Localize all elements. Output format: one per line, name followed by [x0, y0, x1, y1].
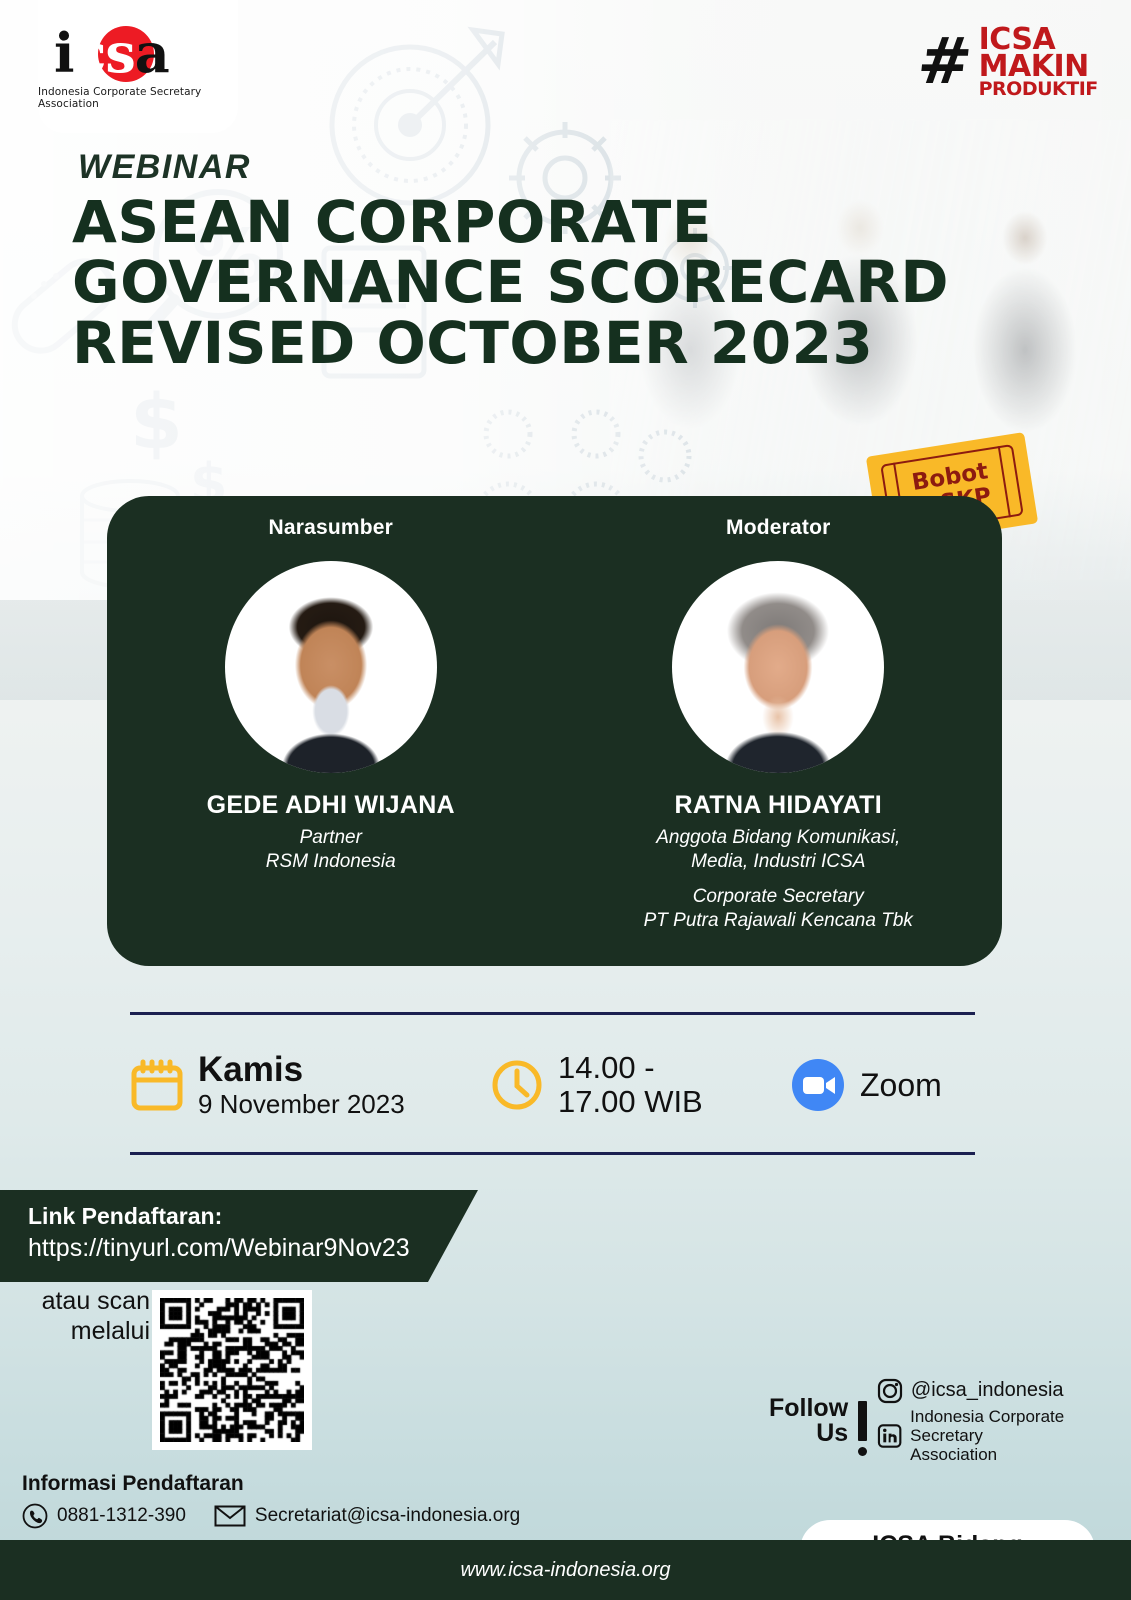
title-line-2: GOVERNANCE SCORECARD: [72, 252, 1072, 312]
logo-letters: icsa: [54, 24, 222, 82]
speaker-name: GEDE ADHI WIJANA: [207, 791, 455, 820]
moderator-role: Moderator: [726, 516, 830, 540]
title-line-1: ASEAN CORPORATE: [72, 192, 1072, 252]
hashtag-lines: ICSA MAKIN PRODUKTIF: [979, 26, 1098, 99]
zoom-video-icon: [790, 1057, 846, 1113]
contact-block: Informasi Pendaftaran 0881-1312-390 Secr…: [22, 1472, 520, 1529]
contact-email-address[interactable]: Secretariat@icsa-indonesia.org: [255, 1505, 520, 1527]
instagram-handle[interactable]: @icsa_indonesia: [911, 1380, 1064, 1402]
divider-bottom: [130, 1152, 975, 1155]
event-platform-label: Zoom: [860, 1067, 942, 1104]
qr-code[interactable]: [152, 1290, 312, 1450]
avatar-photo: [225, 561, 437, 773]
speaker-title-line-2: RSM Indonesia: [266, 850, 396, 874]
event-time-block: 14.00 - 17.00 WIB: [490, 1051, 790, 1119]
scan-line-2: melalui: [22, 1316, 150, 1346]
page-title: ASEAN CORPORATE GOVERNANCE SCORECARD REV…: [72, 192, 1072, 373]
moderator-title2-line-1: Corporate Secretary: [644, 885, 913, 909]
event-details-row: Kamis 9 November 2023 14.00 - 17.00 WIB …: [130, 1035, 990, 1135]
speaker-narasumber: Narasumber GEDE ADHI WIJANA Partner RSM …: [107, 496, 555, 966]
linkedin-icon: [877, 1423, 902, 1449]
contact-email[interactable]: Secretariat@icsa-indonesia.org: [214, 1504, 520, 1528]
linkedin-line-2: Secretary Association: [910, 1426, 997, 1464]
event-date-block: Kamis 9 November 2023: [130, 1051, 490, 1118]
webinar-poster: % $ $: [0, 0, 1131, 1600]
event-time-line-2: 17.00 WIB: [558, 1085, 703, 1119]
icsa-logo: icsa Indonesia Corporate Secretary Assoc…: [38, 0, 238, 133]
speaker-title: Partner RSM Indonesia: [266, 826, 396, 873]
moderator-title-secondary: Corporate Secretary PT Putra Rajawali Ke…: [644, 885, 913, 932]
avatar: [225, 561, 437, 773]
event-date: 9 November 2023: [198, 1090, 405, 1119]
phone-icon: [22, 1503, 48, 1529]
moderator-title-line-1: Anggota Bidang Komunikasi,: [656, 826, 900, 850]
kicker-webinar: WEBINAR: [78, 148, 251, 187]
linkedin-line-1: Indonesia Corporate: [910, 1407, 1064, 1426]
follow-line-2: Us: [769, 1421, 848, 1447]
icsa-logo-wordmark: icsa: [54, 24, 222, 82]
instagram-row[interactable]: @icsa_indonesia: [877, 1378, 1069, 1404]
divider-top: [130, 1012, 975, 1015]
event-platform-block: Zoom: [790, 1057, 990, 1113]
calendar-icon: [130, 1058, 184, 1112]
moderator-title-line-2: Media, Industri ICSA: [656, 850, 900, 874]
follow-us-block: Follow Us @icsa_indonesia: [769, 1386, 1069, 1456]
social-links: @icsa_indonesia Indonesia Corporate Secr…: [877, 1378, 1069, 1465]
event-time-text: 14.00 - 17.00 WIB: [558, 1051, 703, 1119]
hashtag-line-3: PRODUKTIF: [979, 81, 1098, 98]
hashtag-badge: # ICSA MAKIN PRODUKTIF: [918, 18, 1083, 106]
hash-symbol-icon: #: [915, 30, 975, 94]
event-day: Kamis: [198, 1051, 405, 1090]
qr-code-canvas[interactable]: [160, 1298, 304, 1442]
avatar: [672, 561, 884, 773]
linkedin-name[interactable]: Indonesia Corporate Secretary Associatio…: [910, 1408, 1069, 1465]
moderator-title: Anggota Bidang Komunikasi, Media, Indust…: [656, 826, 900, 873]
follow-us-label: Follow Us: [769, 1396, 848, 1447]
footer-website[interactable]: www.icsa-indonesia.org: [460, 1559, 670, 1582]
hashtag-line-2: MAKIN: [979, 53, 1098, 81]
event-date-text: Kamis 9 November 2023: [198, 1051, 405, 1118]
follow-line-1: Follow: [769, 1396, 848, 1422]
scan-line-1: atau scan: [22, 1286, 150, 1316]
speaker-moderator: Moderator RATNA HIDAYATI Anggota Bidang …: [555, 496, 1003, 966]
registration-link-url[interactable]: https://tinyurl.com/Webinar9Nov23: [28, 1234, 478, 1263]
footer-bar: www.icsa-indonesia.org: [0, 1540, 1131, 1600]
moderator-title2-line-2: PT Putra Rajawali Kencana Tbk: [644, 909, 913, 933]
envelope-icon: [214, 1504, 246, 1528]
contact-phone[interactable]: 0881-1312-390: [22, 1503, 186, 1529]
instagram-icon: [877, 1378, 903, 1404]
event-time-line-1: 14.00 -: [558, 1051, 703, 1085]
logo-tagline: Indonesia Corporate Secretary Associatio…: [38, 86, 238, 110]
registration-link-label: Link Pendaftaran:: [28, 1203, 478, 1230]
speaker-title-line-1: Partner: [266, 826, 396, 850]
speakers-card: Narasumber GEDE ADHI WIJANA Partner RSM …: [107, 496, 1002, 966]
linkedin-row[interactable]: Indonesia Corporate Secretary Associatio…: [877, 1408, 1069, 1465]
contact-phone-number[interactable]: 0881-1312-390: [57, 1505, 186, 1527]
moderator-name: RATNA HIDAYATI: [675, 791, 882, 820]
avatar-photo: [672, 561, 884, 773]
title-line-3: REVISED OCTOBER 2023: [72, 313, 1072, 373]
speaker-role: Narasumber: [268, 516, 393, 540]
contact-rows: 0881-1312-390 Secretariat@icsa-indonesia…: [22, 1503, 520, 1529]
clock-icon: [490, 1058, 544, 1112]
registration-link-banner[interactable]: Link Pendaftaran: https://tinyurl.com/We…: [0, 1190, 478, 1282]
contact-title: Informasi Pendaftaran: [22, 1472, 520, 1496]
scan-instruction: atau scan melalui: [22, 1286, 150, 1346]
exclamation-mark-icon: [858, 1401, 867, 1441]
